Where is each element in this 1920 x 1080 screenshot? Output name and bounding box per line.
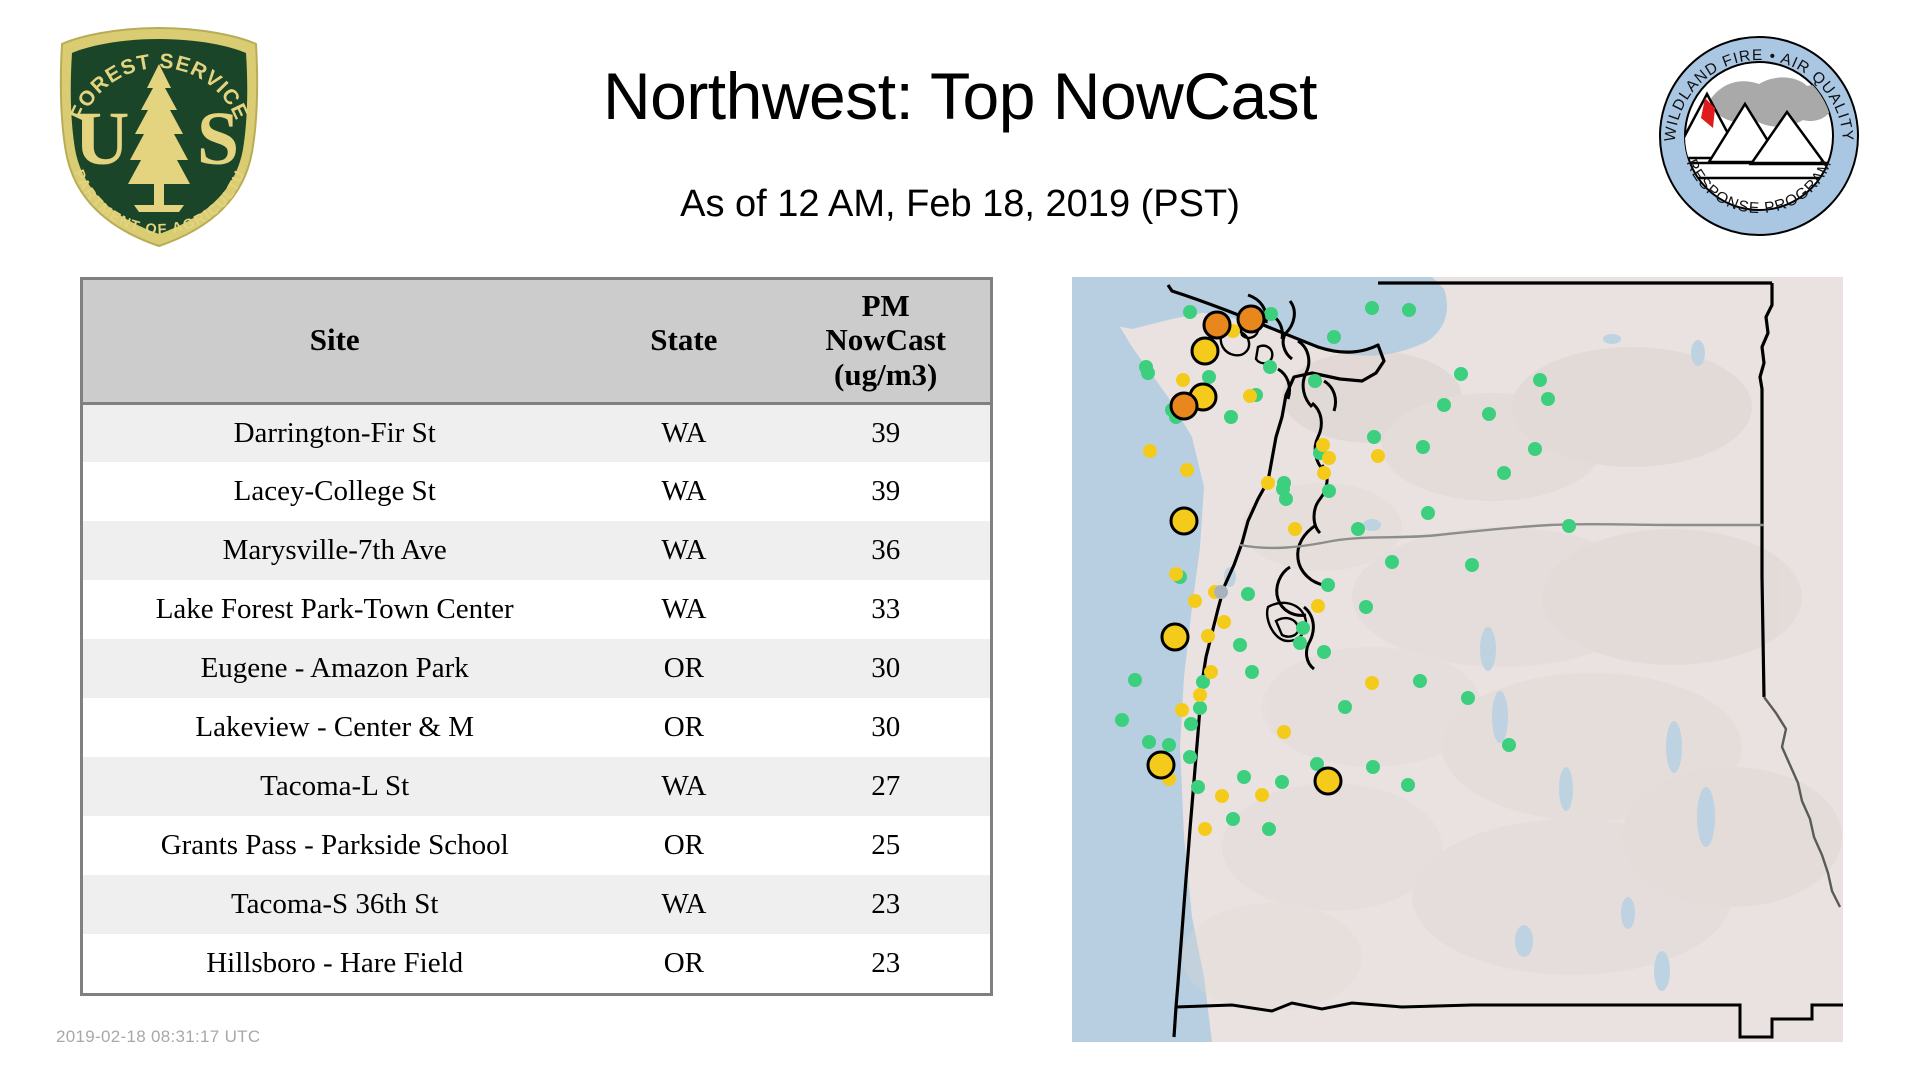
map-marker-good[interactable] bbox=[1541, 392, 1555, 406]
map-marker-good[interactable] bbox=[1502, 738, 1516, 752]
map-marker-moderate[interactable] bbox=[1317, 466, 1331, 480]
map-marker-moderate[interactable] bbox=[1316, 438, 1330, 452]
map-marker-top-site[interactable] bbox=[1238, 306, 1264, 332]
map-marker-moderate[interactable] bbox=[1311, 599, 1325, 613]
map-marker-good[interactable] bbox=[1279, 492, 1293, 506]
map-marker-good[interactable] bbox=[1482, 407, 1496, 421]
map-marker-good[interactable] bbox=[1317, 645, 1331, 659]
map-marker-good[interactable] bbox=[1193, 701, 1207, 715]
nowcast-table-container: Site State PM NowCast (ug/m3) Darrington… bbox=[80, 277, 993, 996]
map-marker-good[interactable] bbox=[1245, 665, 1259, 679]
map-marker-top-site[interactable] bbox=[1204, 312, 1230, 338]
page-subtitle: As of 12 AM, Feb 18, 2019 (PST) bbox=[0, 183, 1920, 226]
state-cell: OR bbox=[586, 934, 781, 993]
map-marker-good[interactable] bbox=[1115, 713, 1129, 727]
map-marker-good[interactable] bbox=[1275, 775, 1289, 789]
table-row[interactable]: Eugene - Amazon ParkOR30 bbox=[83, 639, 990, 698]
table-row[interactable]: Lake Forest Park-Town CenterWA33 bbox=[83, 580, 990, 639]
site-cell: Lake Forest Park-Town Center bbox=[83, 580, 586, 639]
map-marker-good[interactable] bbox=[1128, 673, 1142, 687]
table-row[interactable]: Darrington-Fir StWA39 bbox=[83, 403, 990, 462]
map-marker-good[interactable] bbox=[1365, 301, 1379, 315]
site-cell: Darrington-Fir St bbox=[83, 403, 586, 462]
map-marker-good[interactable] bbox=[1191, 780, 1205, 794]
map-marker-moderate[interactable] bbox=[1371, 449, 1385, 463]
table-row[interactable]: Tacoma-L StWA27 bbox=[83, 757, 990, 816]
map-marker-good[interactable] bbox=[1528, 442, 1542, 456]
slide-root: FOREST SERVICE U S DEPARTMENT OF AGRICUL… bbox=[0, 0, 1920, 1080]
map-marker-good[interactable] bbox=[1327, 330, 1341, 344]
state-cell: WA bbox=[586, 462, 781, 521]
map-marker-moderate[interactable] bbox=[1322, 451, 1336, 465]
table-header-row: Site State PM NowCast (ug/m3) bbox=[83, 280, 990, 403]
map-marker-good[interactable] bbox=[1308, 374, 1322, 388]
map-marker-moderate[interactable] bbox=[1288, 522, 1302, 536]
map-marker-good[interactable] bbox=[1277, 476, 1291, 490]
map-marker-moderate[interactable] bbox=[1204, 665, 1218, 679]
map-marker-good[interactable] bbox=[1183, 750, 1197, 764]
column-header-site-label: Site bbox=[310, 322, 360, 357]
map-marker-good[interactable] bbox=[1454, 367, 1468, 381]
map-marker-good[interactable] bbox=[1533, 373, 1547, 387]
site-cell: Grants Pass - Parkside School bbox=[83, 816, 586, 875]
map-marker-top-site[interactable] bbox=[1162, 624, 1188, 650]
state-cell: OR bbox=[586, 698, 781, 757]
map-marker-good[interactable] bbox=[1367, 430, 1381, 444]
map-marker-moderate[interactable] bbox=[1143, 444, 1157, 458]
page-title: Northwest: Top NowCast bbox=[0, 58, 1920, 134]
pm-nowcast-cell: 23 bbox=[781, 875, 990, 934]
column-header-state-label: State bbox=[650, 322, 717, 357]
pacific-northwest-air-quality-map[interactable] bbox=[1072, 277, 1843, 1042]
state-cell: WA bbox=[586, 521, 781, 580]
site-cell: Eugene - Amazon Park bbox=[83, 639, 586, 698]
generation-timestamp: 2019-02-18 08:31:17 UTC bbox=[56, 1027, 260, 1047]
state-cell: WA bbox=[586, 403, 781, 462]
map-marker-moderate[interactable] bbox=[1176, 373, 1190, 387]
state-cell: OR bbox=[586, 816, 781, 875]
map-marker-moderate[interactable] bbox=[1243, 389, 1257, 403]
column-header-pm-line2: NowCast bbox=[781, 323, 990, 358]
site-cell: Lakeview - Center & M bbox=[83, 698, 586, 757]
column-header-state[interactable]: State bbox=[586, 280, 781, 403]
map-marker-good[interactable] bbox=[1184, 717, 1198, 731]
column-header-pm-line3: (ug/m3) bbox=[781, 358, 990, 393]
map-marker-good[interactable] bbox=[1226, 812, 1240, 826]
pm-nowcast-cell: 30 bbox=[781, 639, 990, 698]
map-marker-good[interactable] bbox=[1262, 822, 1276, 836]
site-cell: Tacoma-S 36th St bbox=[83, 875, 586, 934]
column-header-site[interactable]: Site bbox=[83, 280, 586, 403]
map-marker-good[interactable] bbox=[1416, 440, 1430, 454]
pm-nowcast-cell: 39 bbox=[781, 403, 990, 462]
table-header: Site State PM NowCast (ug/m3) bbox=[83, 280, 990, 403]
pm-nowcast-cell: 36 bbox=[781, 521, 990, 580]
map-marker-good[interactable] bbox=[1421, 506, 1435, 520]
table-row[interactable]: Hillsboro - Hare FieldOR23 bbox=[83, 934, 990, 993]
site-cell: Lacey-College St bbox=[83, 462, 586, 521]
map-marker-good[interactable] bbox=[1296, 621, 1310, 635]
state-cell: WA bbox=[586, 580, 781, 639]
nowcast-table: Site State PM NowCast (ug/m3) Darrington… bbox=[83, 280, 990, 993]
map-marker-good[interactable] bbox=[1293, 636, 1307, 650]
map-marker-moderate[interactable] bbox=[1261, 476, 1275, 490]
site-cell: Hillsboro - Hare Field bbox=[83, 934, 586, 993]
table-row[interactable]: Tacoma-S 36th StWA23 bbox=[83, 875, 990, 934]
site-cell: Tacoma-L St bbox=[83, 757, 586, 816]
map-marker-moderate[interactable] bbox=[1215, 789, 1229, 803]
state-cell: WA bbox=[586, 875, 781, 934]
state-cell: WA bbox=[586, 757, 781, 816]
map-marker-good[interactable] bbox=[1402, 303, 1416, 317]
map-marker-good[interactable] bbox=[1264, 307, 1278, 321]
column-header-pm-nowcast[interactable]: PM NowCast (ug/m3) bbox=[781, 280, 990, 403]
map-marker-top-site[interactable] bbox=[1171, 508, 1197, 534]
pm-nowcast-cell: 27 bbox=[781, 757, 990, 816]
map-marker-good[interactable] bbox=[1497, 466, 1511, 480]
map-marker-good[interactable] bbox=[1142, 735, 1156, 749]
map-marker-moderate[interactable] bbox=[1188, 594, 1202, 608]
map-marker-good[interactable] bbox=[1233, 638, 1247, 652]
map-marker-good[interactable] bbox=[1237, 770, 1251, 784]
map-marker-moderate[interactable] bbox=[1277, 725, 1291, 739]
pm-nowcast-cell: 39 bbox=[781, 462, 990, 521]
pm-nowcast-cell: 25 bbox=[781, 816, 990, 875]
map-marker-moderate[interactable] bbox=[1217, 615, 1231, 629]
map-marker-good[interactable] bbox=[1322, 484, 1336, 498]
map-marker-moderate[interactable] bbox=[1180, 463, 1194, 477]
map-marker-missing[interactable] bbox=[1214, 585, 1228, 599]
map-marker-good[interactable] bbox=[1241, 587, 1255, 601]
map-marker-good[interactable] bbox=[1562, 519, 1576, 533]
map-marker-good[interactable] bbox=[1351, 522, 1365, 536]
map-marker-good[interactable] bbox=[1359, 600, 1373, 614]
pm-nowcast-cell: 30 bbox=[781, 698, 990, 757]
map-marker-good[interactable] bbox=[1437, 398, 1451, 412]
map-marker-good[interactable] bbox=[1141, 366, 1155, 380]
map-marker-good[interactable] bbox=[1465, 558, 1479, 572]
map-marker-moderate[interactable] bbox=[1169, 567, 1183, 581]
table-row[interactable]: Grants Pass - Parkside SchoolOR25 bbox=[83, 816, 990, 875]
wildland-fire-air-quality-response-program-logo: WILDLAND FIRE • AIR QUALITY RESPONSE PRO… bbox=[1655, 32, 1863, 240]
map-marker-good[interactable] bbox=[1461, 691, 1475, 705]
map-marker-top-site[interactable] bbox=[1192, 338, 1218, 364]
column-header-pm-line1: PM bbox=[781, 289, 990, 324]
map-marker-good[interactable] bbox=[1224, 410, 1238, 424]
table-row[interactable]: Lacey-College StWA39 bbox=[83, 462, 990, 521]
map-marker-good[interactable] bbox=[1183, 305, 1197, 319]
table-row[interactable]: Lakeview - Center & MOR30 bbox=[83, 698, 990, 757]
map-marker-good[interactable] bbox=[1321, 578, 1335, 592]
map-marker-moderate[interactable] bbox=[1193, 688, 1207, 702]
map-marker-good[interactable] bbox=[1366, 760, 1380, 774]
map-marker-good[interactable] bbox=[1401, 778, 1415, 792]
site-cell: Marysville-7th Ave bbox=[83, 521, 586, 580]
map-marker-top-site[interactable] bbox=[1171, 393, 1197, 419]
table-row[interactable]: Marysville-7th AveWA36 bbox=[83, 521, 990, 580]
map-marker-good[interactable] bbox=[1385, 555, 1399, 569]
map-marker-top-site[interactable] bbox=[1315, 768, 1341, 794]
map-marker-moderate[interactable] bbox=[1175, 703, 1189, 717]
map-marker-good[interactable] bbox=[1413, 674, 1427, 688]
map-marker-moderate[interactable] bbox=[1201, 629, 1215, 643]
map-marker-good[interactable] bbox=[1202, 370, 1216, 384]
map-marker-moderate[interactable] bbox=[1255, 788, 1269, 802]
map-marker-good[interactable] bbox=[1338, 700, 1352, 714]
map-marker-moderate[interactable] bbox=[1365, 676, 1379, 690]
pm-nowcast-cell: 33 bbox=[781, 580, 990, 639]
map-marker-top-site[interactable] bbox=[1148, 752, 1174, 778]
map-marker-good[interactable] bbox=[1263, 360, 1277, 374]
table-body: Darrington-Fir StWA39Lacey-College StWA3… bbox=[83, 403, 990, 993]
pm-nowcast-cell: 23 bbox=[781, 934, 990, 993]
map-markers-missing[interactable] bbox=[1214, 585, 1228, 599]
map-marker-good[interactable] bbox=[1162, 738, 1176, 752]
state-cell: OR bbox=[586, 639, 781, 698]
map-marker-moderate[interactable] bbox=[1198, 822, 1212, 836]
